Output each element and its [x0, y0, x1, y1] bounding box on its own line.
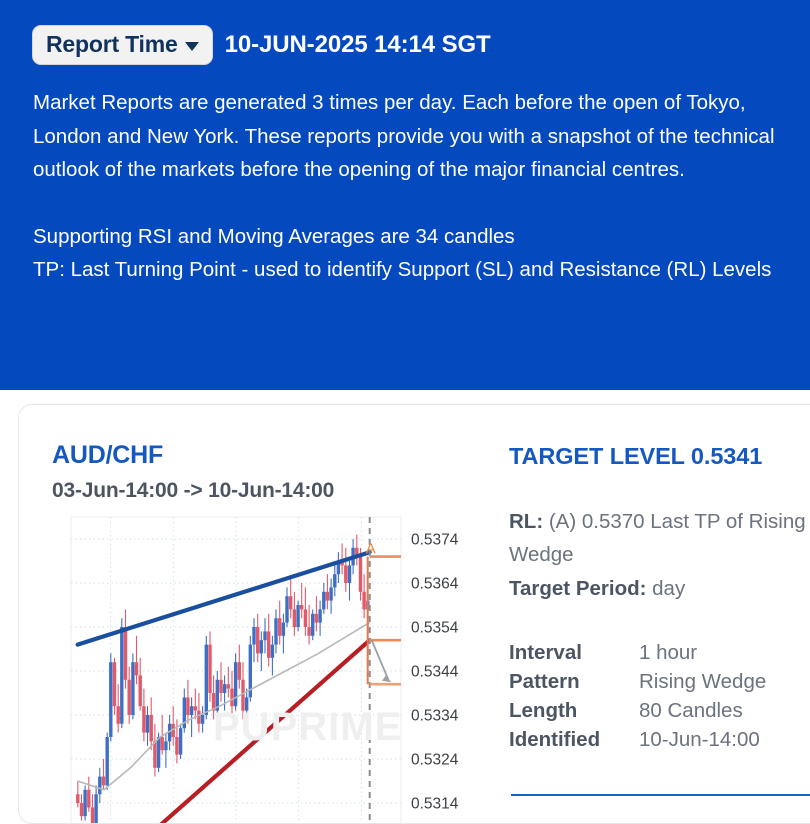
banner-header: Report Time 10-JUN-2025 14:14 SGT: [32, 25, 491, 65]
y-axis-labels: 0.53740.53640.53540.53440.53340.53240.53…: [411, 532, 459, 813]
table-row: Pattern Rising Wedge: [509, 670, 810, 699]
pattern-spec-table: Interval 1 hour Pattern Rising Wedge Len…: [509, 641, 810, 757]
report-time-dropdown[interactable]: Report Time: [32, 25, 213, 65]
svg-text:0.5354: 0.5354: [411, 620, 459, 637]
svg-text:0.5314: 0.5314: [411, 796, 459, 813]
svg-text:0.5334: 0.5334: [411, 708, 459, 725]
spec-value: Rising Wedge: [639, 670, 810, 699]
spec-value: 1 hour: [639, 641, 810, 670]
banner-paragraph-2-line-1: Supporting RSI and Moving Averages are 3…: [33, 220, 795, 254]
spec-key: Interval: [509, 641, 639, 670]
chart-svg: A 0.53740.53640.53540.53440.53340.53240.…: [53, 513, 493, 824]
banner-paragraph-1: Market Reports are generated 3 times per…: [33, 86, 795, 187]
banner-paragraph-2-line-2: TP: Last Turning Point - used to identif…: [33, 253, 795, 287]
report-banner: Report Time 10-JUN-2025 14:14 SGT Market…: [0, 0, 810, 390]
target-period-label: Target Period:: [509, 577, 646, 600]
svg-text:A: A: [366, 541, 376, 558]
svg-text:0.5374: 0.5374: [411, 532, 459, 549]
pattern-report-card: AUD/CHF 03-Jun-14:00 -> 10-Jun-14:00 TAR…: [18, 404, 810, 824]
report-time-value: 10-JUN-2025 14:14 SGT: [225, 31, 491, 59]
banner-description: Market Reports are generated 3 times per…: [33, 86, 795, 287]
chevron-down-icon: [185, 42, 199, 51]
spec-value: 80 Candles: [639, 699, 810, 728]
table-row: Identified 10-Jun-14:00: [509, 728, 810, 757]
pattern-info-panel: RL: (A) 0.5370 Last TP of Rising Wedge T…: [509, 505, 810, 605]
target-period-line: Target Period: day: [509, 572, 810, 605]
currency-pair-title: AUD/CHF: [52, 441, 163, 470]
target-level-heading: TARGET LEVEL 0.5341: [509, 443, 762, 470]
target-period-value: day: [652, 577, 685, 600]
svg-text:0.5364: 0.5364: [411, 576, 459, 593]
spec-value: 10-Jun-14:00: [639, 728, 810, 757]
panel-divider: [511, 794, 810, 796]
svg-text:0.5344: 0.5344: [411, 664, 459, 681]
spec-table-body: Interval 1 hour Pattern Rising Wedge Len…: [509, 641, 810, 757]
svg-text:0.5324: 0.5324: [411, 752, 459, 769]
spec-key: Identified: [509, 728, 639, 757]
table-row: Interval 1 hour: [509, 641, 810, 670]
spec-key: Pattern: [509, 670, 639, 699]
report-time-button-label: Report Time: [46, 32, 178, 57]
rl-value: (A) 0.5370 Last TP of Rising Wedge: [509, 510, 806, 566]
candlestick-chart: A 0.53740.53640.53540.53440.53340.53240.…: [53, 513, 493, 824]
resistance-level-line: RL: (A) 0.5370 Last TP of Rising Wedge: [509, 505, 809, 571]
rl-label: RL:: [509, 510, 543, 533]
spec-key: Length: [509, 699, 639, 728]
table-row: Length 80 Candles: [509, 699, 810, 728]
chart-date-range: 03-Jun-14:00 -> 10-Jun-14:00: [52, 479, 334, 503]
